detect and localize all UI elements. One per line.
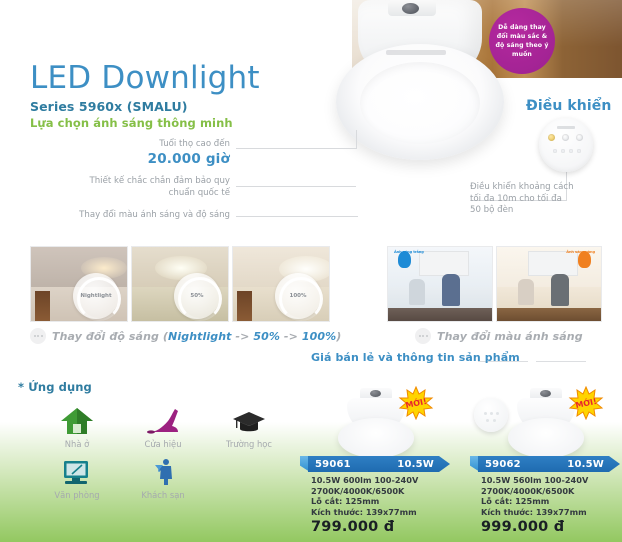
cool-light-tag: Ánh sáng trắng — [394, 250, 424, 254]
remote-description-line1: Điều khiển khoảng cách — [470, 182, 610, 194]
dimming-caption-arrow-1: -> — [232, 330, 254, 343]
product-1-details: 10.5W 600lm 100-240V 2700K/4000K/6500K L… — [308, 472, 460, 535]
remote-power-button — [562, 134, 569, 141]
feature-build-quality-line2: chuẩn quốc tế — [40, 188, 230, 200]
dimming-caption-50: 50% — [253, 330, 280, 343]
remote-description-line3: 50 bộ đèn — [470, 205, 610, 217]
application-office: Văn phòng — [34, 449, 120, 500]
dimming-caption: Thay đổi độ sáng (Nightlight -> 50% -> 1… — [30, 328, 341, 344]
remote-small-button-4 — [577, 149, 581, 153]
monitor-icon — [34, 449, 120, 487]
leader-line-3 — [236, 216, 358, 217]
remote-small-button-3 — [569, 149, 573, 153]
dimming-caption-prefix: Thay đổi độ sáng ( — [52, 330, 168, 343]
dimming-dial-label: Nightlight — [80, 293, 111, 299]
pricing-title-rule-2 — [536, 361, 586, 362]
remote-brand-mark — [557, 126, 575, 129]
dimming-caption-text: Thay đổi độ sáng (Nightlight -> 50% -> 1… — [52, 330, 341, 343]
application-hotel-label: Khách sạn — [120, 490, 206, 500]
dimming-photo-50: 50% — [131, 246, 229, 322]
product-2-banner-body: 59062 10.5W — [478, 456, 620, 472]
product-1-price: 799.000 đ — [311, 519, 460, 535]
downlight-lens — [360, 62, 480, 144]
color-caption-text: Thay đổi màu ánh sáng — [437, 330, 583, 343]
photo-door — [237, 291, 252, 321]
application-home: Nhà ở — [34, 398, 120, 449]
purple-feature-badge-text: Dễ dàng thay đổi màu sắc & độ sáng theo … — [489, 23, 555, 59]
photo-person-2 — [551, 274, 569, 306]
photo-cabinet — [419, 251, 469, 275]
dimming-caption-100: 100% — [302, 330, 336, 343]
mini-remote-dot-4 — [486, 419, 489, 422]
series-label: Series 5960x (SMALU) — [30, 99, 260, 114]
shoe-icon — [120, 398, 206, 436]
application-spacer — [206, 449, 292, 500]
applications-grid: Nhà ở Cửa hiệu — [34, 398, 300, 500]
remote-dots-icon — [30, 328, 46, 344]
downlight-knob — [402, 3, 419, 14]
dimming-caption-suffix: ) — [336, 330, 341, 343]
dimming-dial-label: 100% — [290, 293, 307, 299]
dimming-caption-arrow-2: -> — [280, 330, 302, 343]
product-2-spec-4: Kích thước: 139x77mm — [481, 507, 622, 518]
product-knob — [540, 390, 551, 397]
product-1-spec-4: Kích thước: 139x77mm — [311, 507, 460, 518]
remote-small-button-1 — [553, 149, 557, 153]
feature-lifetime-value: 20.000 giờ — [40, 151, 230, 167]
product-1-spec-1: 10.5W 600lm 100-240V — [311, 475, 460, 486]
product-2-banner: 59062 10.5W — [478, 456, 622, 472]
dimming-dial-100: 100% — [275, 273, 321, 319]
remote-dots-icon — [415, 328, 431, 344]
product-1-banner: 59061 10.5W — [308, 456, 460, 472]
feature-build-quality-line1: Thiết kế chắc chắn đảm bảo quy — [40, 176, 230, 188]
remote-description: Điều khiển khoảng cách tối đa 10m cho tố… — [470, 182, 610, 217]
product-1-spec-2: 2700K/4000K/6500K — [311, 486, 460, 497]
downlight-brand-mark — [386, 50, 446, 55]
leader-line-1 — [236, 148, 356, 149]
dimming-dial-50: 50% — [174, 273, 220, 319]
product-2-code: 59062 — [485, 459, 521, 470]
mini-remote-dot-2 — [490, 412, 493, 415]
application-school: Trường học — [206, 398, 292, 449]
dimming-images: Nightlight 50% 100% — [30, 246, 341, 322]
photo-person-1 — [409, 279, 425, 305]
photo-person-2 — [442, 274, 460, 306]
color-strip: Ánh sáng trắng Ánh sáng vàng Thay đổi mà… — [387, 246, 602, 344]
new-badge-product-1: MỚI! — [398, 386, 434, 420]
new-badge-product-2: MỚI! — [568, 386, 604, 420]
product-2-wattage: 10.5W — [567, 459, 604, 470]
feature-color-change: Thay đổi màu ánh sáng và độ sáng — [40, 210, 230, 222]
page-title: LED Downlight — [30, 60, 260, 96]
house-icon — [34, 398, 120, 436]
photo-person-1 — [518, 279, 534, 305]
product-2-details: 10.5W 560lm 100-240V 2700K/4000K/6500K L… — [478, 472, 622, 535]
purple-feature-badge: Dễ dàng thay đổi màu sắc & độ sáng theo … — [489, 8, 555, 74]
dimming-dial-label: 50% — [190, 293, 203, 299]
color-images: Ánh sáng trắng Ánh sáng vàng — [387, 246, 602, 322]
color-photo-warm: Ánh sáng vàng — [496, 246, 602, 322]
product-card-59062[interactable]: 59062 10.5W 10.5W 560lm 100-240V 2700K/4… — [478, 456, 622, 535]
leader-line-vertical-1 — [356, 130, 357, 149]
product-2-price: 999.000 đ — [481, 519, 622, 535]
product-trim-ring — [338, 418, 414, 458]
remote-description-line2: tối đa 10m cho tối đa — [470, 194, 610, 206]
feature-lifetime: Tuổi thọ cao đến 20.000 giờ — [40, 139, 230, 167]
remote-control-image — [539, 118, 593, 172]
dimming-dial-nightlight: Nightlight — [73, 273, 119, 319]
application-home-label: Nhà ở — [34, 439, 120, 449]
product-1-banner-body: 59061 10.5W — [308, 456, 450, 472]
headline-block: LED Downlight Series 5960x (SMALU) Lựa c… — [30, 60, 260, 130]
product-card-59061[interactable]: 59061 10.5W 10.5W 600lm 100-240V 2700K/4… — [308, 456, 460, 535]
photo-counter — [388, 308, 492, 321]
color-photo-cool: Ánh sáng trắng — [387, 246, 493, 322]
photo-counter — [497, 308, 601, 321]
waiter-icon — [120, 449, 206, 487]
warm-light-tag: Ánh sáng vàng — [566, 250, 595, 254]
tagline: Lựa chọn ánh sáng thông minh — [30, 116, 260, 130]
product-1-wattage: 10.5W — [397, 459, 434, 470]
applications-title: * Ứng dụng — [18, 380, 92, 394]
product-trim-ring — [508, 418, 584, 458]
downlight-product-image — [330, 0, 510, 176]
photo-cabinet — [528, 251, 578, 275]
application-shop-label: Cửa hiệu — [120, 439, 206, 449]
remote-warm-button — [548, 134, 555, 141]
dimming-photo-nightlight: Nightlight — [30, 246, 128, 322]
feature-lifetime-label: Tuổi thọ cao đến — [40, 139, 230, 151]
application-shop: Cửa hiệu — [120, 398, 206, 449]
dimming-photo-100: 100% — [232, 246, 330, 322]
product-2-spec-2: 2700K/4000K/6500K — [481, 486, 622, 497]
applications-row-2: Văn phòng Khách sạn — [34, 449, 300, 500]
product-1-spec-3: Lỗ cắt: 125mm — [311, 496, 460, 507]
product-flyer-page: Dễ dàng thay đổi màu sắc & độ sáng theo … — [0, 0, 622, 542]
product-knob — [370, 390, 381, 397]
remote-small-button-2 — [561, 149, 565, 153]
graduation-cap-icon — [206, 398, 292, 436]
mini-remote-dot-5 — [493, 419, 496, 422]
remote-title: Điều khiển — [526, 98, 611, 114]
pricing-title: Giá bán lẻ và thông tin sản phẩm — [311, 351, 520, 364]
application-office-label: Văn phòng — [34, 490, 120, 500]
color-caption: Thay đổi màu ánh sáng — [415, 328, 602, 344]
product-2-remote-photo — [474, 398, 508, 432]
dimming-caption-nightlight: Nightlight — [168, 330, 231, 343]
photo-door — [35, 291, 50, 321]
product-1-code: 59061 — [315, 459, 351, 470]
remote-cool-button — [576, 134, 583, 141]
dimming-strip: Nightlight 50% 100% — [30, 246, 341, 344]
application-school-label: Trường học — [206, 439, 292, 449]
leader-line-2 — [236, 186, 356, 187]
mini-remote-dot-1 — [484, 412, 487, 415]
feature-color-change-line1: Thay đổi màu ánh sáng và độ sáng — [40, 210, 230, 222]
product-2-spec-1: 10.5W 560lm 100-240V — [481, 475, 622, 486]
application-hotel: Khách sạn — [120, 449, 206, 500]
product-2-spec-3: Lỗ cắt: 125mm — [481, 496, 622, 507]
applications-row-1: Nhà ở Cửa hiệu — [34, 398, 300, 449]
mini-remote-dot-3 — [496, 412, 499, 415]
feature-build-quality: Thiết kế chắc chắn đảm bảo quy chuẩn quố… — [40, 176, 230, 199]
